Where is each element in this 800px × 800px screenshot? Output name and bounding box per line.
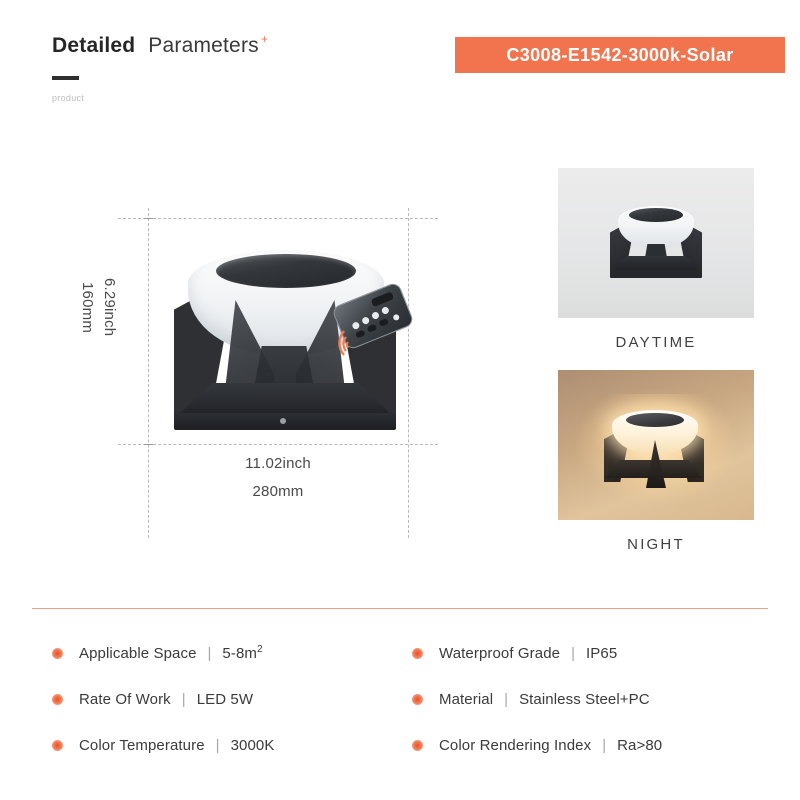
product-image-main	[160, 250, 410, 445]
bullet-dot-icon	[412, 694, 423, 705]
bullet-dot-icon	[52, 694, 63, 705]
spec-label: Color Rendering Index	[439, 737, 591, 754]
product-image-daytime	[606, 206, 706, 284]
bullet-dot-icon	[412, 740, 423, 751]
spec-value: 3000K	[231, 737, 275, 754]
spec-row: Waterproof Grade | IP65	[412, 630, 772, 676]
spec-label: Material	[439, 691, 493, 708]
guide-line-top	[118, 218, 438, 219]
plus-superscript-icon: +	[261, 33, 268, 45]
page-title: Detailed Parameters +	[52, 34, 412, 58]
section-divider	[32, 608, 768, 609]
spec-label: Rate Of Work	[79, 691, 171, 708]
specs-column-right: Waterproof Grade | IP65 Material | Stain…	[412, 630, 772, 768]
solar-panel	[626, 413, 684, 427]
thumbnail-daytime-image	[558, 168, 754, 318]
thumbnail-daytime-caption: DAYTIME	[558, 334, 754, 351]
spec-value: Stainless Steel+PC	[519, 691, 650, 708]
bullet-dot-icon	[52, 740, 63, 751]
spec-row: Color Temperature | 3000K	[52, 722, 412, 768]
spec-value: IP65	[586, 645, 617, 662]
bullet-dot-icon	[412, 648, 423, 659]
signal-waves-icon	[322, 328, 352, 358]
spec-separator: |	[216, 737, 220, 754]
spec-value: Ra>80	[617, 737, 662, 754]
width-mm-label: 280mm	[178, 483, 378, 500]
spec-row: Applicable Space | 5-8m2	[52, 630, 412, 676]
width-inch-label: 11.02inch	[178, 455, 378, 472]
page-title-light: Parameters	[148, 34, 259, 58]
spec-separator: |	[504, 691, 508, 708]
guide-line-left	[148, 208, 149, 538]
spec-separator: |	[602, 737, 606, 754]
tick-top-left	[144, 218, 153, 219]
solar-panel	[216, 254, 356, 288]
spec-row: Color Rendering Index | Ra>80	[412, 722, 772, 768]
spec-value: LED 5W	[197, 691, 253, 708]
spec-row: Material | Stainless Steel+PC	[412, 676, 772, 722]
spec-value-text: 5-8m	[222, 645, 257, 662]
lamp-screw-icon	[280, 418, 286, 424]
tick-bottom-left	[144, 444, 153, 445]
model-banner-text: C3008-E1542-3000k-Solar	[506, 45, 733, 66]
title-underline-rule	[52, 76, 79, 80]
model-banner: C3008-E1542-3000k-Solar	[455, 37, 785, 73]
spec-separator: |	[208, 645, 212, 662]
spec-label: Color Temperature	[79, 737, 205, 754]
specifications-list: Applicable Space | 5-8m2 Rate Of Work | …	[52, 630, 772, 768]
bullet-dot-icon	[52, 648, 63, 659]
thumbnail-night-caption: NIGHT	[558, 536, 754, 553]
lamp-base-plate	[178, 383, 392, 415]
product-image-night	[602, 410, 710, 490]
solar-panel	[629, 208, 683, 222]
page-subtitle: product	[52, 93, 412, 103]
spec-separator: |	[182, 691, 186, 708]
specs-column-left: Applicable Space | 5-8m2 Rate Of Work | …	[52, 630, 412, 768]
spec-value: 5-8m2	[222, 644, 262, 662]
spec-value-superscript: 2	[257, 644, 263, 655]
lamp-base-foot	[610, 270, 702, 278]
page-header: Detailed Parameters + product	[52, 34, 412, 103]
height-mm-label: 160mm	[79, 282, 96, 333]
height-inch-label: 6.29inch	[101, 278, 118, 336]
spec-row: Rate Of Work | LED 5W	[52, 676, 412, 722]
spec-separator: |	[571, 645, 575, 662]
thumbnail-night[interactable]: NIGHT	[558, 370, 754, 553]
page-title-strong: Detailed	[52, 34, 135, 58]
thumbnail-daytime[interactable]: DAYTIME	[558, 168, 754, 351]
dimension-diagram: 6.29inch 160mm 11.02inch 280mm	[0, 130, 460, 520]
spec-label: Applicable Space	[79, 645, 197, 662]
spec-label: Waterproof Grade	[439, 645, 560, 662]
thumbnail-night-image	[558, 370, 754, 520]
